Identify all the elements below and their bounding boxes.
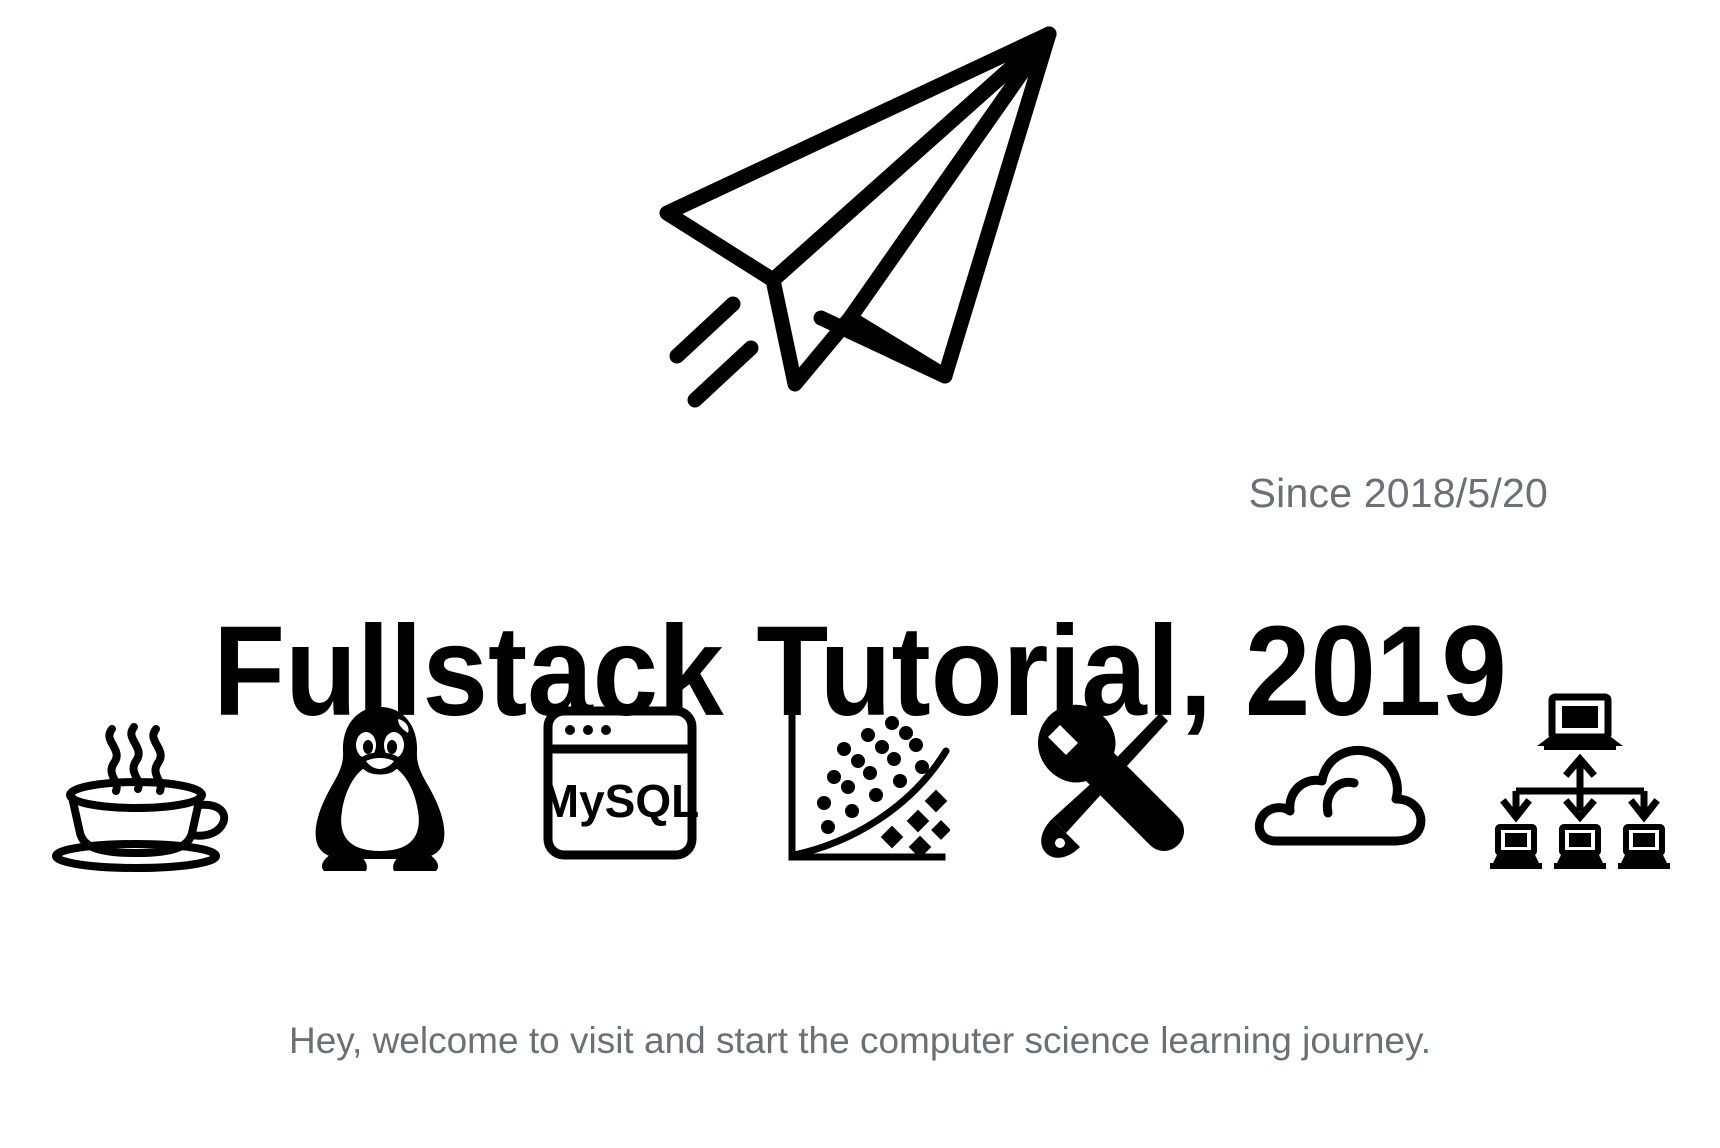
- tools-icon: [1010, 693, 1190, 873]
- cloud-icon: [1250, 693, 1430, 873]
- welcome-tagline: Hey, welcome to visit and start the comp…: [0, 1020, 1720, 1062]
- scatter-plot-icon: [770, 693, 950, 873]
- network-topology-icon: [1490, 693, 1670, 873]
- paper-plane-logo: [0, 18, 1720, 418]
- technology-icon-strip: MySQL: [50, 688, 1670, 873]
- landing-page: Since 2018/5/20 Fullstack Tutorial, 2019: [0, 0, 1720, 1148]
- mysql-window-icon: MySQL: [530, 693, 710, 873]
- mysql-label: MySQL: [541, 775, 699, 827]
- linux-penguin-icon: [290, 693, 470, 873]
- coffee-cup-icon: [50, 693, 230, 873]
- since-label: Since 2018/5/20: [1249, 470, 1548, 517]
